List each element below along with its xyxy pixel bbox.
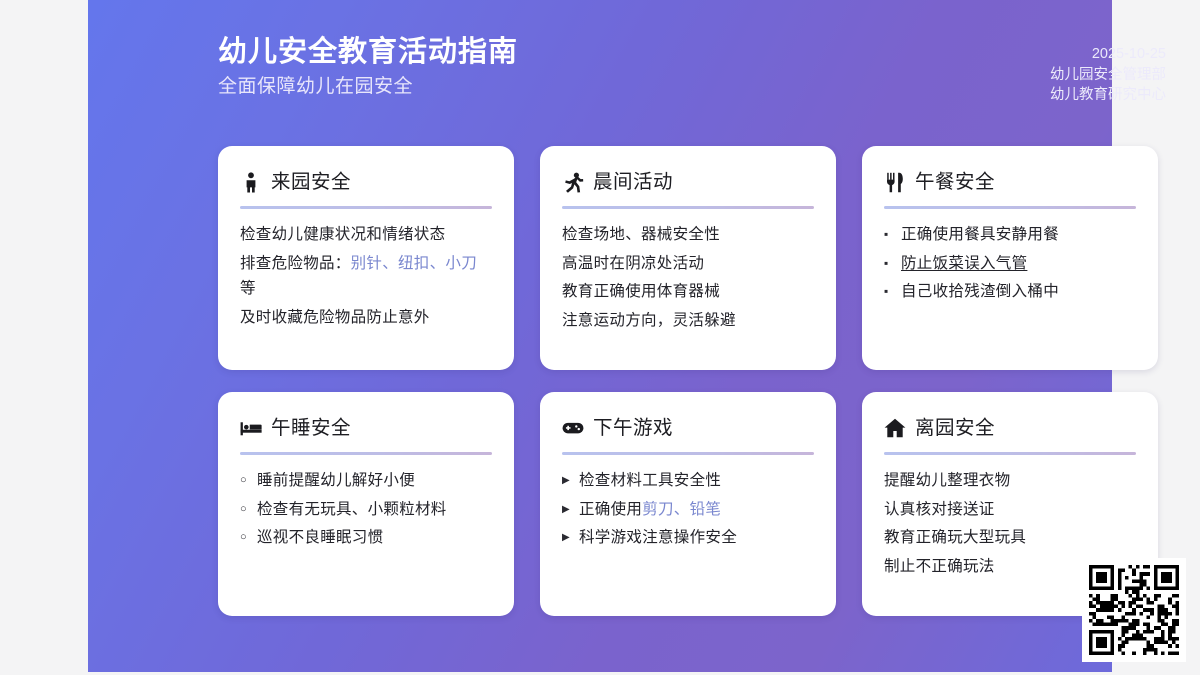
plain-text: 自己收拾残渣倒入桶中	[901, 283, 1059, 300]
card-divider	[884, 206, 1136, 209]
plain-text: 睡前提醒幼儿解好小便	[257, 472, 415, 489]
header-date: 2025-10-25	[1050, 44, 1166, 65]
card-header: 下午游戏	[562, 414, 814, 442]
plain-text: 正确使用餐具安静用餐	[901, 226, 1059, 243]
list-item-text: 注意运动方向，灵活躲避	[562, 308, 814, 334]
header-meta-block: 2025-10-25 幼儿园安全管理部 幼儿教育研究中心	[1050, 44, 1166, 106]
header-org: 幼儿园安全管理部	[1050, 65, 1166, 86]
list-bullet: ▶	[562, 468, 579, 494]
card-item-list: ▪正确使用餐具安静用餐▪防止饭菜误入气管▪自己收拾残渣倒入桶中	[884, 222, 1136, 305]
list-item: 检查幼儿健康状况和情绪状态	[240, 222, 492, 248]
page-title: 幼儿安全教育活动指南	[218, 32, 518, 72]
plain-text: 制止不正确玩法	[884, 558, 995, 575]
list-item: 检查场地、器械安全性	[562, 222, 814, 248]
plain-text: 高温时在阴凉处活动	[562, 255, 704, 272]
list-item: ▪防止饭菜误入气管	[884, 251, 1136, 277]
card-header: 午餐安全	[884, 168, 1136, 196]
list-item-text: 教育正确玩大型玩具	[884, 525, 1136, 551]
card-divider	[240, 452, 492, 455]
list-bullet: ▪	[884, 279, 901, 305]
list-item: ▪自己收拾残渣倒入桶中	[884, 279, 1136, 305]
card-title: 午睡安全	[271, 415, 351, 441]
list-item: ○检查有无玩具、小颗粒材料	[240, 497, 492, 523]
qr-code-image	[1089, 565, 1179, 655]
card-divider	[562, 206, 814, 209]
list-item: 教育正确使用体育器械	[562, 279, 814, 305]
house-icon	[884, 417, 906, 439]
list-item-text: 正确使用餐具安静用餐	[901, 222, 1136, 248]
header-center: 幼儿教育研究中心	[1050, 85, 1166, 106]
list-item: ▶检查材料工具安全性	[562, 468, 814, 494]
card-header: 来园安全	[240, 168, 492, 196]
card-item-list: 检查场地、器械安全性高温时在阴凉处活动教育正确使用体育器械注意运动方向，灵活躲避	[562, 222, 814, 333]
fork-knife-icon	[884, 171, 906, 193]
plain-text: 正确使用	[579, 501, 642, 518]
plain-text: 巡视不良睡眠习惯	[257, 529, 383, 546]
plain-text: 教育正确使用体育器械	[562, 283, 720, 300]
highlighted-term: 剪刀、铅笔	[642, 501, 721, 518]
list-item-text: 认真核对接送证	[884, 497, 1136, 523]
header-left-block: 幼儿安全教育活动指南 全面保障幼儿在园安全	[218, 32, 518, 102]
card-item-list: 检查幼儿健康状况和情绪状态排查危险物品：别针、纽扣、小刀等及时收藏危险物品防止意…	[240, 222, 492, 330]
list-item-text: 提醒幼儿整理衣物	[884, 468, 1136, 494]
list-item-text: 高温时在阴凉处活动	[562, 251, 814, 277]
list-item-text: 检查材料工具安全性	[579, 468, 814, 494]
list-item: ○巡视不良睡眠习惯	[240, 525, 492, 551]
list-item-text: 检查有无玩具、小颗粒材料	[257, 497, 492, 523]
list-item-text: 检查幼儿健康状况和情绪状态	[240, 222, 492, 248]
plain-text: 检查场地、器械安全性	[562, 226, 720, 243]
list-bullet: ▶	[562, 497, 579, 523]
card-header: 晨间活动	[562, 168, 814, 196]
card-title: 晨间活动	[593, 169, 673, 195]
card-header: 午睡安全	[240, 414, 492, 442]
list-item: 高温时在阴凉处活动	[562, 251, 814, 277]
gamepad-icon	[562, 417, 584, 439]
plain-text: 注意运动方向，灵活躲避	[562, 312, 736, 329]
card-grid: 来园安全检查幼儿健康状况和情绪状态排查危险物品：别针、纽扣、小刀等及时收藏危险物…	[218, 146, 1166, 616]
highlighted-term: 别针、纽扣、小刀	[351, 255, 477, 272]
list-item: 提醒幼儿整理衣物	[884, 468, 1136, 494]
list-bullet: ○	[240, 497, 257, 523]
poster-header: 幼儿安全教育活动指南 全面保障幼儿在园安全 2025-10-25 幼儿园安全管理…	[218, 32, 1166, 122]
list-item-text: 自己收拾残渣倒入桶中	[901, 279, 1136, 305]
plain-text: 及时收藏危险物品防止意外	[240, 309, 430, 326]
list-item: 教育正确玩大型玩具	[884, 525, 1136, 551]
list-item: 排查危险物品：别针、纽扣、小刀等	[240, 251, 492, 302]
plain-text: 认真核对接送证	[884, 501, 995, 518]
plain-text: 教育正确玩大型玩具	[884, 529, 1026, 546]
list-item-text: 正确使用剪刀、铅笔	[579, 497, 814, 523]
card-divider	[240, 206, 492, 209]
safety-card: 午餐安全▪正确使用餐具安静用餐▪防止饭菜误入气管▪自己收拾残渣倒入桶中	[862, 146, 1158, 370]
plain-text: 排查危险物品：	[240, 255, 351, 272]
qr-code[interactable]	[1082, 558, 1186, 662]
plain-text: 防止饭菜误入气管	[901, 255, 1027, 272]
list-bullet: ▪	[884, 222, 901, 248]
list-item-text: 排查危险物品：别针、纽扣、小刀等	[240, 251, 492, 302]
list-item-text: 科学游戏注意操作安全	[579, 525, 814, 551]
safety-card: 午睡安全○睡前提醒幼儿解好小便○检查有无玩具、小颗粒材料○巡视不良睡眠习惯	[218, 392, 514, 616]
plain-text: 科学游戏注意操作安全	[579, 529, 737, 546]
list-item-text: 及时收藏危险物品防止意外	[240, 305, 492, 331]
list-item: ▪正确使用餐具安静用餐	[884, 222, 1136, 248]
list-item-text: 巡视不良睡眠习惯	[257, 525, 492, 551]
list-item: 认真核对接送证	[884, 497, 1136, 523]
card-divider	[562, 452, 814, 455]
list-item-text: 教育正确使用体育器械	[562, 279, 814, 305]
list-item: ○睡前提醒幼儿解好小便	[240, 468, 492, 494]
safety-card: 下午游戏▶检查材料工具安全性▶正确使用剪刀、铅笔▶科学游戏注意操作安全	[540, 392, 836, 616]
list-item: 注意运动方向，灵活躲避	[562, 308, 814, 334]
safety-card: 来园安全检查幼儿健康状况和情绪状态排查危险物品：别针、纽扣、小刀等及时收藏危险物…	[218, 146, 514, 370]
list-item-text: 睡前提醒幼儿解好小便	[257, 468, 492, 494]
running-person-icon	[562, 171, 584, 193]
card-title: 来园安全	[271, 169, 351, 195]
list-bullet: ○	[240, 468, 257, 494]
list-item: 及时收藏危险物品防止意外	[240, 305, 492, 331]
plain-text: 检查有无玩具、小颗粒材料	[257, 501, 447, 518]
card-divider	[884, 452, 1136, 455]
card-title: 下午游戏	[593, 415, 673, 441]
list-item: ▶科学游戏注意操作安全	[562, 525, 814, 551]
safety-card: 晨间活动检查场地、器械安全性高温时在阴凉处活动教育正确使用体育器械注意运动方向，…	[540, 146, 836, 370]
card-title: 午餐安全	[915, 169, 995, 195]
plain-text: 等	[240, 280, 256, 297]
card-header: 离园安全	[884, 414, 1136, 442]
plain-text: 检查材料工具安全性	[579, 472, 721, 489]
list-bullet: ▶	[562, 525, 579, 551]
plain-text: 检查幼儿健康状况和情绪状态	[240, 226, 445, 243]
bed-icon	[240, 417, 262, 439]
plain-text: 提醒幼儿整理衣物	[884, 472, 1010, 489]
card-title: 离园安全	[915, 415, 995, 441]
list-item: ▶正确使用剪刀、铅笔	[562, 497, 814, 523]
list-bullet: ▪	[884, 251, 901, 277]
list-item-text: 防止饭菜误入气管	[901, 251, 1136, 277]
list-bullet: ○	[240, 525, 257, 551]
poster-panel: 幼儿安全教育活动指南 全面保障幼儿在园安全 2025-10-25 幼儿园安全管理…	[88, 0, 1112, 672]
card-item-list: ▶检查材料工具安全性▶正确使用剪刀、铅笔▶科学游戏注意操作安全	[562, 468, 814, 551]
card-item-list: ○睡前提醒幼儿解好小便○检查有无玩具、小颗粒材料○巡视不良睡眠习惯	[240, 468, 492, 551]
list-item-text: 检查场地、器械安全性	[562, 222, 814, 248]
child-icon	[240, 171, 262, 193]
page-subtitle: 全面保障幼儿在园安全	[218, 72, 518, 102]
